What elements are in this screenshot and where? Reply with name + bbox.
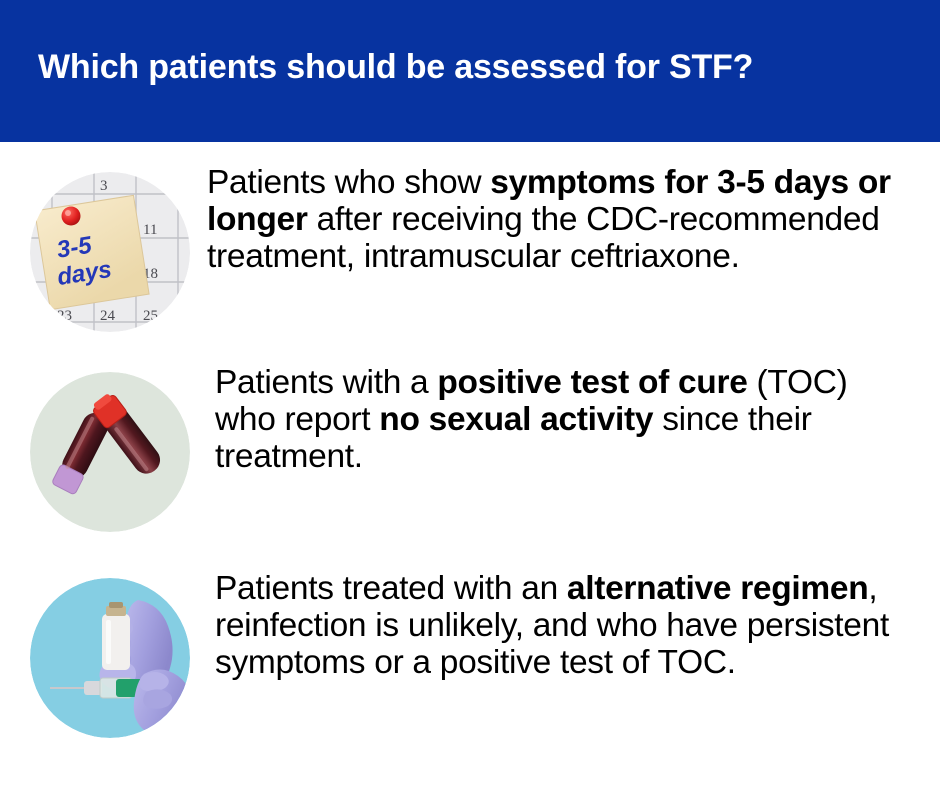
emphasis-text: positive test of cure [437,364,747,401]
calendar-sticky-note-graphic: 3 9 10 11 18 23 24 25 3-5 days [30,172,190,332]
vaccine-vial-syringe-graphic [30,578,190,738]
list-item-text: Patients treated with an alternative reg… [215,570,915,681]
svg-text:23: 23 [57,308,72,324]
list-item-text: Patients who show symptoms for 3-5 days … [207,164,907,275]
emphasis-text: no sexual activity [379,401,653,438]
body-text: Patients who show [207,164,490,201]
blood-test-tubes-graphic [30,372,190,532]
body-text: Patients with a [215,364,437,401]
blood-test-tubes-image [30,372,190,532]
vaccine-vial-syringe-image [30,578,190,738]
svg-text:24: 24 [100,308,116,324]
body-text: after receiving the CDC-recommended trea… [207,201,880,275]
body-text: Patients treated with an [215,570,567,607]
svg-text:25: 25 [143,308,158,324]
calendar-sticky-note-image: 3 9 10 11 18 23 24 25 3-5 days [30,172,190,332]
page-title: Which patients should be assessed for ST… [38,48,753,87]
svg-text:11: 11 [143,222,157,238]
emphasis-text: alternative regimen [567,570,869,607]
list-item-text: Patients with a positive test of cure (T… [215,364,915,475]
header-banner: Which patients should be assessed for ST… [0,0,940,142]
svg-text:3: 3 [100,178,108,194]
